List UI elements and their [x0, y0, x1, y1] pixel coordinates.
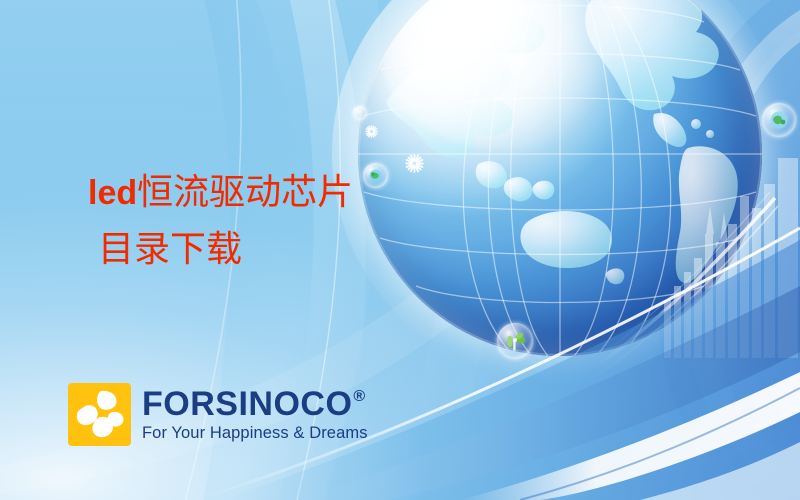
snowflake-icon-1	[364, 124, 379, 139]
brand-logo[interactable]: FORSINOCO ® For Your Happiness & Dreams	[68, 383, 368, 446]
registered-trademark-icon: ®	[353, 389, 365, 405]
headline-line-1: led恒流驱动芯片	[88, 164, 353, 221]
bubble-globe-icon-3	[762, 103, 796, 137]
four-petal-pinwheel-icon	[68, 383, 131, 446]
headline: led恒流驱动芯片 目录下载	[88, 164, 353, 277]
promo-banner: led恒流驱动芯片 目录下载 FORSINOCO ® For Your Happ…	[0, 0, 800, 500]
logo-name: FORSINOCO ®	[142, 387, 368, 421]
logo-tagline: For Your Happiness & Dreams	[142, 425, 368, 442]
snowflake-icon-2	[404, 153, 425, 174]
logo-text: FORSINOCO ® For Your Happiness & Dreams	[142, 387, 368, 442]
bubble-globe-icon-1	[353, 106, 367, 120]
bubble-windmill-icon	[497, 323, 533, 359]
headline-line-1-cjk: 恒流驱动芯片	[137, 172, 353, 212]
light-trail-icon	[600, 180, 800, 380]
bubble-globe-icon-2	[363, 163, 388, 188]
headline-line-2: 目录下载	[88, 221, 353, 277]
headline-line-1-latin: led	[88, 174, 137, 212]
logo-name-text: FORSINOCO	[142, 387, 352, 421]
light-trail	[600, 180, 800, 380]
logo-mark	[68, 383, 131, 446]
